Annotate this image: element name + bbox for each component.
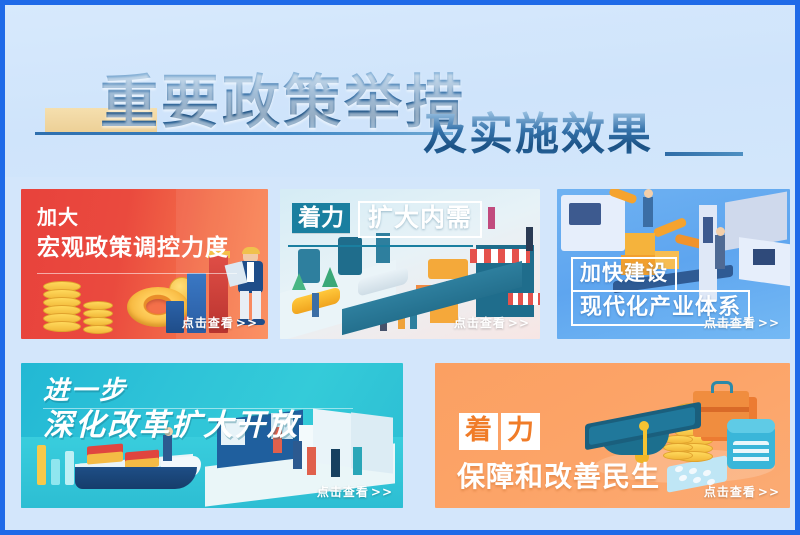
card2-cta[interactable]: 点击查看>> — [454, 314, 530, 331]
card2-cta-label: 点击查看 — [454, 316, 506, 330]
livelihood-card[interactable]: 着 力 保障和改善民生 点击查看>> — [435, 363, 790, 508]
coin-stack-short-icon — [83, 301, 117, 333]
card3-machine-screen — [569, 203, 601, 225]
domestic-demand-card[interactable]: 着力 扩大内需 点击查看>> — [280, 189, 540, 339]
card2-badge: 着力 — [292, 203, 350, 233]
card3-worker-2-head — [716, 227, 725, 236]
page-title-primary: 重要政策举措 — [100, 71, 466, 133]
card5-cta[interactable]: 点击查看>> — [704, 483, 780, 500]
coin-stack-tall-icon — [43, 281, 85, 331]
card1-headline-line1: 加大 — [37, 207, 229, 231]
card4-cta-label: 点击查看 — [317, 485, 369, 499]
card3-cta-arrow-icon: >> — [758, 316, 780, 330]
card1-cta-arrow-icon: >> — [236, 316, 258, 330]
card3-pillar-panel — [703, 217, 713, 243]
page-title-secondary: 及实施效果 — [423, 111, 653, 159]
card2-headline-rule — [288, 245, 473, 247]
card5-cta-label: 点击查看 — [704, 485, 756, 499]
page-header: 重要政策举措 及实施效果 — [5, 5, 795, 177]
card4-headline-line1: 进一步 — [43, 375, 299, 406]
macro-policy-card[interactable]: 加大 宏观政策调控力度 点击查看>> — [21, 189, 268, 339]
card2-billboard-2 — [338, 237, 362, 275]
card1-headline-line2: 宏观政策调控力度 — [37, 234, 229, 261]
card3-cta-label: 点击查看 — [704, 316, 756, 330]
card4-chart-bar-3 — [65, 451, 74, 485]
card1-headline-rule — [37, 273, 237, 274]
card2-cta-arrow-icon: >> — [508, 316, 530, 330]
card4-visitor-5 — [331, 449, 340, 477]
page-root: 重要政策举措 及实施效果 — [0, 0, 800, 535]
card5-headline: 保障和改善民生 — [457, 455, 660, 495]
card5-badge-char2: 力 — [501, 413, 540, 450]
card3-cta[interactable]: 点击查看>> — [704, 314, 780, 331]
card4-headline-line2: 深化改革扩大开放 — [43, 408, 299, 443]
card3-machine-screen-2 — [753, 249, 775, 265]
card4-visitor-3 — [293, 441, 302, 469]
title-block: 重要政策举措 及实施效果 — [5, 33, 795, 153]
card1-headline: 加大 宏观政策调控力度 — [37, 207, 229, 261]
card3-headline-line1: 加快建设 — [571, 257, 677, 292]
card5-cta-arrow-icon: >> — [758, 485, 780, 499]
card2-tree-icon-2 — [292, 273, 306, 290]
card1-cta[interactable]: 点击查看>> — [182, 314, 258, 331]
card4-visitor-4 — [307, 447, 316, 475]
card4-headline-rule — [43, 408, 353, 409]
card4-cta[interactable]: 点击查看>> — [317, 483, 393, 500]
card1-cta-label: 点击查看 — [182, 316, 234, 330]
card3-worker-1 — [643, 197, 653, 227]
card2-stall-awning — [508, 293, 540, 305]
card4-headline: 进一步 深化改革扩大开放 — [43, 375, 299, 443]
card4-chart-bar-1 — [37, 445, 46, 485]
card4-visitor-6 — [353, 447, 362, 475]
pill-bottle-icon — [727, 419, 777, 473]
card3-worker-2 — [715, 235, 725, 269]
card3-worker-1-head — [644, 189, 653, 198]
title-underline-secondary — [665, 152, 743, 156]
card2-tree-icon-1 — [322, 267, 338, 287]
reform-opening-card[interactable]: 进一步 深化改革扩大开放 点击查看>> — [21, 363, 403, 508]
card5-badge-char1: 着 — [459, 413, 498, 450]
card4-chart-bar-2 — [51, 459, 60, 485]
card2-person-6 — [488, 207, 495, 229]
cargo-ship-hull — [75, 467, 197, 489]
card2-person-1 — [312, 293, 319, 317]
modern-industry-card[interactable]: 加快建设 现代化产业体系 点击查看>> — [557, 189, 790, 339]
card2-person-7 — [526, 227, 533, 251]
card4-cta-arrow-icon: >> — [371, 485, 393, 499]
card2-headline: 扩大内需 — [358, 201, 482, 238]
